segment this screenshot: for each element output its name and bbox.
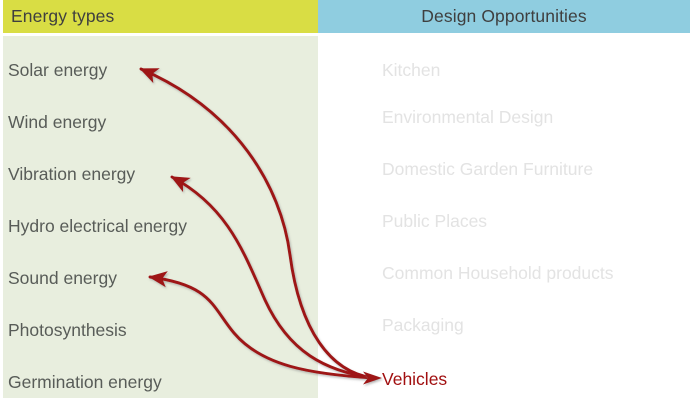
list-item-label: Photosynthesis (8, 320, 127, 341)
bottom-strip (0, 398, 698, 405)
column-header-design-opportunities: Design Opportunities (318, 0, 690, 33)
list-item-energy-photosynthesis[interactable]: Photosynthesis (0, 317, 127, 343)
column-header-energy-types-label: Energy types (11, 6, 114, 27)
list-item-design-packaging[interactable]: Packaging (320, 312, 464, 338)
list-item-energy-wind[interactable]: Wind energy (0, 109, 106, 135)
list-item-label: Public Places (382, 211, 487, 232)
list-item-label: Kitchen (382, 60, 440, 81)
list-item-label: Solar energy (8, 60, 107, 81)
list-item-energy-vibration[interactable]: Vibration energy (0, 161, 135, 187)
list-item-label: Vehicles (382, 369, 447, 390)
list-item-energy-sound[interactable]: Sound energy (0, 265, 117, 291)
diagram-canvas: Energy types Design Opportunities Solar … (0, 0, 698, 405)
list-item-design-public-places[interactable]: Public Places (320, 208, 487, 234)
list-item-label: Vibration energy (8, 164, 135, 185)
list-item-energy-solar[interactable]: Solar energy (0, 57, 107, 83)
list-item-design-vehicles[interactable]: Vehicles (320, 366, 447, 392)
list-item-design-household-products[interactable]: Common Household products (320, 260, 614, 286)
column-header-design-opportunities-label: Design Opportunities (421, 6, 586, 27)
list-item-design-kitchen[interactable]: Kitchen (320, 57, 440, 83)
list-item-energy-germination[interactable]: Germination energy (0, 369, 162, 395)
list-item-label: Environmental Design (382, 107, 553, 128)
list-item-design-garden-furniture[interactable]: Domestic Garden Furniture (320, 156, 593, 182)
list-item-label: Hydro electrical energy (8, 216, 187, 237)
list-item-label: Wind energy (8, 112, 106, 133)
list-item-design-environmental[interactable]: Environmental Design (320, 104, 553, 130)
list-item-label: Packaging (382, 315, 464, 336)
list-item-label: Common Household products (382, 263, 614, 284)
list-item-label: Sound energy (8, 268, 117, 289)
list-item-label: Germination energy (8, 372, 162, 393)
list-item-label: Domestic Garden Furniture (382, 159, 593, 180)
column-header-energy-types: Energy types (3, 0, 318, 33)
list-item-energy-hydro[interactable]: Hydro electrical energy (0, 213, 187, 239)
